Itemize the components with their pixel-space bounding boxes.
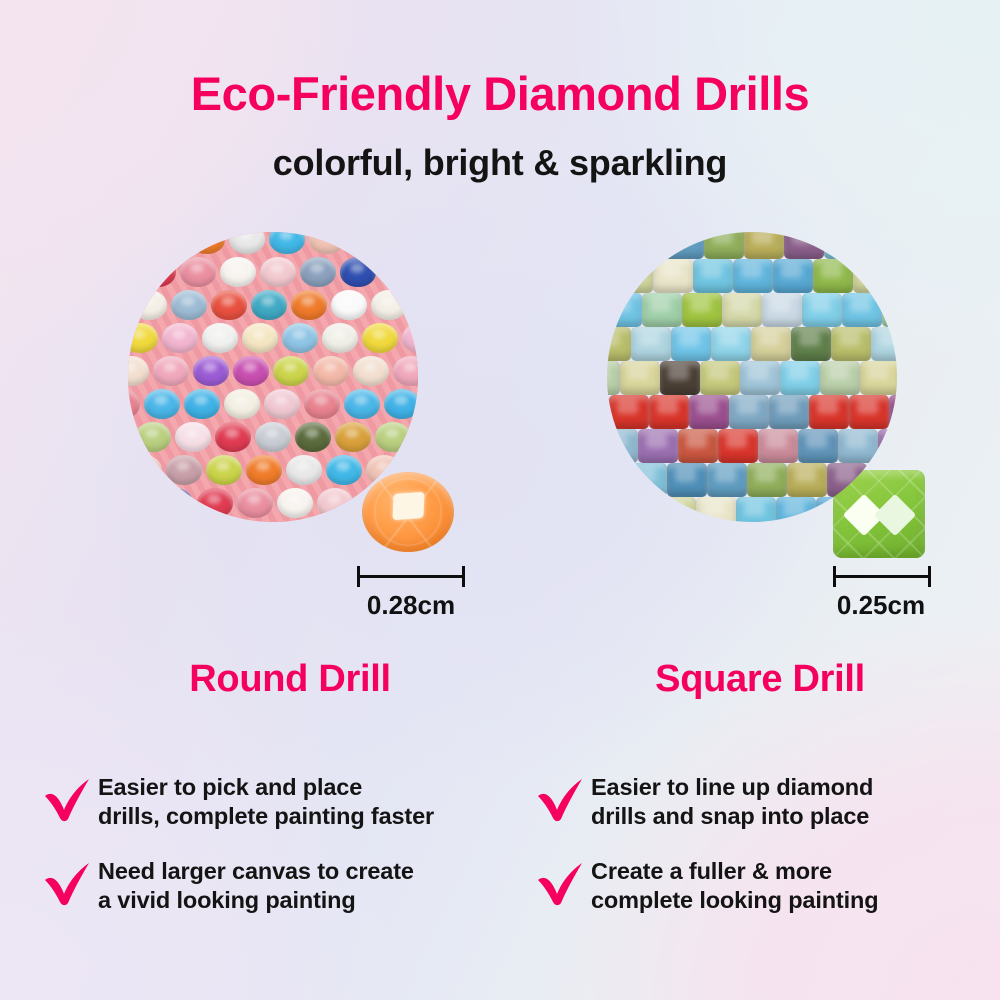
bead bbox=[344, 389, 380, 419]
bead bbox=[787, 463, 827, 497]
bead bbox=[331, 290, 367, 320]
bead bbox=[402, 323, 418, 353]
bead bbox=[157, 488, 193, 518]
bead bbox=[711, 327, 751, 361]
bead bbox=[140, 257, 176, 287]
bead bbox=[889, 395, 897, 429]
bead bbox=[224, 389, 260, 419]
bead bbox=[415, 422, 418, 452]
bead bbox=[128, 257, 136, 287]
feature-text: Need larger canvas to createa vivid look… bbox=[98, 856, 414, 914]
check-icon bbox=[535, 858, 591, 908]
bead bbox=[893, 259, 897, 293]
feature-item: Create a fuller & morecomplete looking p… bbox=[535, 856, 1000, 914]
feature-text: Easier to line up diamonddrills and snap… bbox=[591, 772, 873, 830]
bead bbox=[882, 293, 897, 327]
bead bbox=[871, 327, 897, 361]
bead bbox=[144, 389, 180, 419]
bead bbox=[340, 257, 376, 287]
bead bbox=[171, 290, 207, 320]
bead bbox=[228, 521, 264, 522]
bead bbox=[251, 290, 287, 320]
bead bbox=[707, 463, 747, 497]
bead bbox=[776, 497, 816, 522]
bead bbox=[842, 293, 882, 327]
bead bbox=[282, 323, 318, 353]
bead bbox=[813, 259, 853, 293]
square-drill-features: Easier to line up diamonddrills and snap… bbox=[535, 772, 1000, 941]
bead bbox=[326, 455, 362, 485]
round-bead-grid bbox=[128, 232, 418, 522]
bead bbox=[820, 361, 860, 395]
bead bbox=[233, 356, 269, 386]
bead bbox=[371, 290, 407, 320]
bead bbox=[189, 232, 225, 254]
bead bbox=[689, 395, 729, 429]
bead bbox=[255, 422, 291, 452]
bead bbox=[831, 327, 871, 361]
bead bbox=[671, 327, 711, 361]
bead bbox=[128, 232, 145, 254]
square-drill-heading: Square Drill bbox=[560, 658, 960, 701]
bead bbox=[220, 257, 256, 287]
bead bbox=[295, 422, 331, 452]
bead bbox=[128, 323, 158, 353]
square-bead-grid bbox=[607, 232, 897, 522]
bead bbox=[184, 389, 220, 419]
bead bbox=[304, 389, 340, 419]
bead bbox=[269, 232, 305, 254]
bead bbox=[128, 389, 140, 419]
bead bbox=[607, 327, 631, 361]
bead bbox=[682, 293, 722, 327]
bead bbox=[718, 429, 758, 463]
round-drill-photo bbox=[128, 232, 418, 522]
page-title: Eco-Friendly Diamond Drills bbox=[0, 66, 1000, 121]
bead bbox=[197, 488, 233, 518]
square-scale-bar bbox=[833, 566, 931, 586]
bead bbox=[607, 293, 642, 327]
bead bbox=[784, 232, 824, 259]
bead bbox=[300, 257, 336, 287]
bead bbox=[229, 232, 265, 254]
bead bbox=[277, 488, 313, 518]
bead bbox=[607, 463, 627, 497]
bead bbox=[309, 232, 345, 254]
round-scale-bar bbox=[357, 566, 465, 586]
bead bbox=[642, 293, 682, 327]
bead bbox=[816, 497, 856, 522]
bead bbox=[286, 455, 322, 485]
bead bbox=[864, 232, 897, 259]
bead bbox=[609, 395, 649, 429]
bead bbox=[349, 232, 385, 254]
bead bbox=[809, 395, 849, 429]
bead bbox=[128, 422, 131, 452]
bead bbox=[607, 497, 616, 522]
bead bbox=[624, 232, 664, 259]
bead bbox=[762, 293, 802, 327]
bead bbox=[791, 327, 831, 361]
check-icon bbox=[42, 858, 98, 908]
bead bbox=[656, 497, 696, 522]
bead bbox=[411, 290, 418, 320]
bead bbox=[838, 429, 878, 463]
bead bbox=[148, 521, 184, 522]
bead bbox=[128, 455, 162, 485]
feature-item: Easier to line up diamonddrills and snap… bbox=[535, 772, 1000, 830]
bead bbox=[246, 455, 282, 485]
bead bbox=[664, 232, 704, 259]
feature-item: Easier to pick and placedrills, complete… bbox=[42, 772, 512, 830]
bead bbox=[188, 521, 224, 522]
square-size-label: 0.25cm bbox=[800, 590, 962, 621]
round-size-label: 0.28cm bbox=[330, 590, 492, 621]
bead bbox=[389, 232, 418, 254]
bead bbox=[849, 395, 889, 429]
bead bbox=[393, 356, 418, 386]
bead bbox=[878, 429, 897, 463]
bead bbox=[175, 422, 211, 452]
bead bbox=[747, 463, 787, 497]
bead bbox=[853, 259, 893, 293]
bead bbox=[751, 327, 791, 361]
bead bbox=[313, 356, 349, 386]
bead bbox=[704, 232, 744, 259]
page-subtitle: colorful, bright & sparkling bbox=[0, 142, 1000, 184]
bead bbox=[780, 361, 820, 395]
bead bbox=[678, 429, 718, 463]
round-drill-heading: Round Drill bbox=[120, 658, 460, 701]
bead bbox=[729, 395, 769, 429]
bead bbox=[237, 488, 273, 518]
bead bbox=[193, 356, 229, 386]
bead bbox=[802, 293, 842, 327]
bead bbox=[128, 488, 153, 518]
bead bbox=[180, 257, 216, 287]
bead bbox=[242, 323, 278, 353]
bead bbox=[380, 257, 416, 287]
feature-text: Easier to pick and placedrills, complete… bbox=[98, 772, 434, 830]
bead bbox=[649, 395, 689, 429]
bead bbox=[264, 389, 300, 419]
bead bbox=[128, 356, 149, 386]
bead bbox=[696, 497, 736, 522]
feature-item: Need larger canvas to createa vivid look… bbox=[42, 856, 512, 914]
bead bbox=[353, 356, 389, 386]
bead bbox=[273, 356, 309, 386]
square-drill-photo bbox=[607, 232, 897, 522]
bead bbox=[827, 463, 867, 497]
bead bbox=[607, 232, 624, 259]
bead bbox=[824, 232, 864, 259]
bead bbox=[744, 232, 784, 259]
bead bbox=[260, 257, 296, 287]
bead bbox=[627, 463, 667, 497]
bead bbox=[769, 395, 809, 429]
bead bbox=[384, 389, 418, 419]
bead bbox=[375, 422, 411, 452]
bead bbox=[149, 232, 185, 254]
bead bbox=[162, 323, 198, 353]
bead bbox=[135, 422, 171, 452]
bead bbox=[722, 293, 762, 327]
bead bbox=[733, 259, 773, 293]
bead bbox=[856, 497, 896, 522]
bead bbox=[206, 455, 242, 485]
bead bbox=[667, 463, 707, 497]
bead bbox=[616, 497, 656, 522]
bead bbox=[317, 488, 353, 518]
bead bbox=[131, 290, 167, 320]
bead bbox=[860, 361, 897, 395]
bead bbox=[202, 323, 238, 353]
bead bbox=[653, 259, 693, 293]
bead bbox=[607, 361, 620, 395]
bead bbox=[211, 290, 247, 320]
check-icon bbox=[535, 774, 591, 824]
bead bbox=[638, 429, 678, 463]
bead bbox=[166, 455, 202, 485]
bead bbox=[798, 429, 838, 463]
bead bbox=[660, 361, 700, 395]
bead bbox=[700, 361, 740, 395]
bead bbox=[867, 463, 897, 497]
bead bbox=[322, 323, 358, 353]
bead bbox=[362, 323, 398, 353]
bead bbox=[736, 497, 776, 522]
bead bbox=[896, 497, 897, 522]
bead bbox=[335, 422, 371, 452]
bead bbox=[613, 259, 653, 293]
bead bbox=[308, 521, 344, 522]
round-drill-features: Easier to pick and placedrills, complete… bbox=[42, 772, 512, 941]
bead bbox=[291, 290, 327, 320]
bead bbox=[128, 521, 144, 522]
bead bbox=[215, 422, 251, 452]
bead bbox=[740, 361, 780, 395]
bead bbox=[153, 356, 189, 386]
bead bbox=[631, 327, 671, 361]
bead bbox=[268, 521, 304, 522]
bead bbox=[773, 259, 813, 293]
bead bbox=[693, 259, 733, 293]
check-icon bbox=[42, 774, 98, 824]
bead bbox=[758, 429, 798, 463]
feature-text: Create a fuller & morecomplete looking p… bbox=[591, 856, 878, 914]
bead bbox=[607, 429, 638, 463]
bead bbox=[620, 361, 660, 395]
